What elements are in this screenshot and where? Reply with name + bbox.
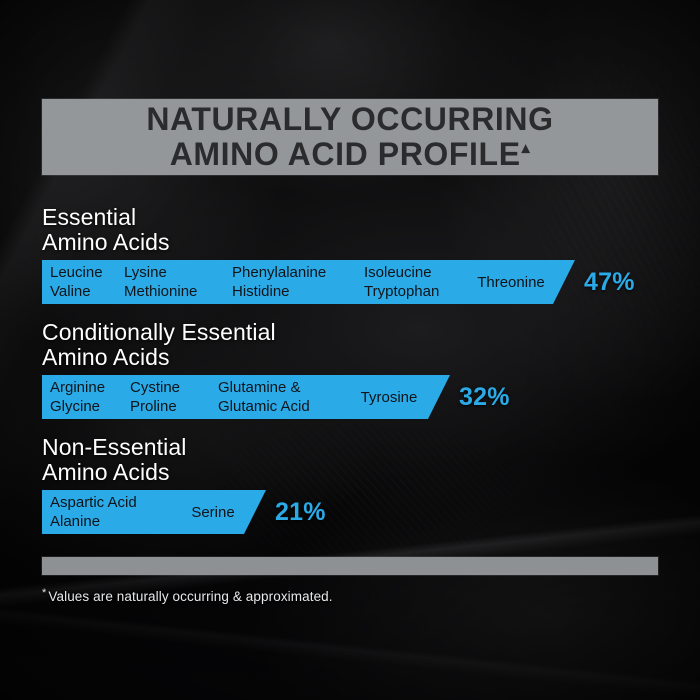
amino-acid-cell: ArginineGlycine (42, 378, 130, 416)
amino-acid-name: Glutamic Acid (218, 397, 350, 416)
amino-acid-name: Valine (50, 282, 124, 301)
section-1: EssentialAmino AcidsLeucineValineLysineM… (42, 205, 635, 304)
section-heading-line-1: Non-Essential (42, 435, 326, 460)
bar-arrow-tail (244, 490, 266, 534)
amino-acid-name: Tryptophan (364, 282, 469, 301)
amino-acid-cell: IsoleucineTryptophan (364, 263, 469, 301)
bar-arrow-tail (428, 375, 450, 419)
amino-acid-name: Phenylalanine (232, 263, 364, 282)
amino-acid-name: Proline (130, 397, 218, 416)
amino-acid-name: Aspartic Acid (50, 493, 182, 512)
amino-acid-bar: ArginineGlycineCystineProlineGlutamine &… (42, 375, 428, 419)
amino-acid-cell: Aspartic AcidAlanine (42, 493, 182, 531)
amino-acid-cell: Threonine (469, 273, 553, 292)
section-3: Non-EssentialAmino AcidsAspartic AcidAla… (42, 435, 326, 534)
amino-acid-name: Cystine (130, 378, 218, 397)
amino-acid-bar: Aspartic AcidAlanineSerine (42, 490, 244, 534)
percentage-label: 32% (459, 383, 510, 412)
bar-arrow-tail (553, 260, 575, 304)
section-heading-line-2: Amino Acids (42, 460, 326, 485)
amino-acid-cell: Tyrosine (350, 388, 428, 407)
amino-acid-cell: CystineProline (130, 378, 218, 416)
section-heading-line-2: Amino Acids (42, 345, 510, 370)
percentage-label: 21% (275, 498, 326, 527)
page-title-line-2-text: AMINO ACID PROFILE (170, 136, 521, 172)
amino-acid-bar-row: Aspartic AcidAlanineSerine21% (42, 490, 326, 534)
amino-acid-bar-row: LeucineValineLysineMethioninePhenylalani… (42, 260, 635, 304)
amino-acid-name: Histidine (232, 282, 364, 301)
amino-acid-name: Tyrosine (350, 388, 428, 407)
page-title-line-1: NATURALLY OCCURRING (146, 102, 553, 137)
amino-acid-cell: PhenylalanineHistidine (232, 263, 364, 301)
footnote-marker: * (42, 587, 46, 599)
divider-bar (42, 557, 658, 575)
amino-acid-name: Serine (182, 503, 244, 522)
section-heading-line-2: Amino Acids (42, 230, 635, 255)
amino-acid-name: Lysine (124, 263, 232, 282)
amino-acid-cell: LysineMethionine (124, 263, 232, 301)
amino-acid-name: Glutamine & (218, 378, 350, 397)
footnote: *Values are naturally occurring & approx… (42, 589, 333, 604)
amino-acid-bar: LeucineValineLysineMethioninePhenylalani… (42, 260, 553, 304)
amino-acid-name: Methionine (124, 282, 232, 301)
section-2: Conditionally EssentialAmino AcidsArgini… (42, 320, 510, 419)
section-heading-line-1: Conditionally Essential (42, 320, 510, 345)
percentage-label: 47% (584, 268, 635, 297)
amino-acid-profile-infographic: NATURALLY OCCURRING AMINO ACID PROFILE▴ … (0, 0, 700, 700)
amino-acid-name: Threonine (469, 273, 553, 292)
section-heading-line-1: Essential (42, 205, 635, 230)
amino-acid-name: Alanine (50, 512, 182, 531)
amino-acid-name: Leucine (50, 263, 124, 282)
amino-acid-bar-row: ArginineGlycineCystineProlineGlutamine &… (42, 375, 510, 419)
amino-acid-name: Glycine (50, 397, 130, 416)
amino-acid-cell: Serine (182, 503, 244, 522)
amino-acid-name: Isoleucine (364, 263, 469, 282)
amino-acid-name: Arginine (50, 378, 130, 397)
title-footnote-marker: ▴ (522, 140, 531, 157)
title-banner: NATURALLY OCCURRING AMINO ACID PROFILE▴ (42, 99, 658, 175)
amino-acid-cell: Glutamine &Glutamic Acid (218, 378, 350, 416)
amino-acid-cell: LeucineValine (42, 263, 124, 301)
page-title-line-2: AMINO ACID PROFILE▴ (170, 137, 531, 172)
footnote-text: Values are naturally occurring & approxi… (48, 589, 332, 604)
content-area: NATURALLY OCCURRING AMINO ACID PROFILE▴ … (0, 0, 700, 700)
